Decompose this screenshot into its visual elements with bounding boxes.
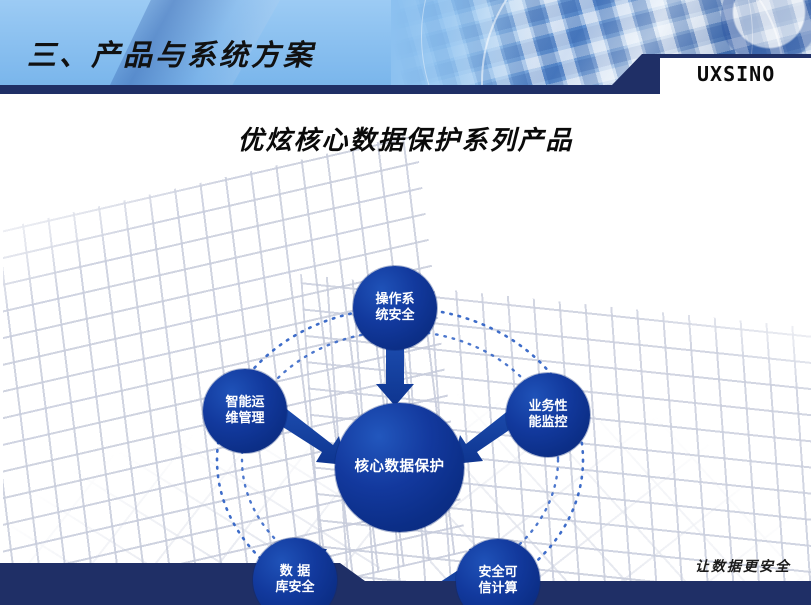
diagram-node-os-security-line1: 操作系 bbox=[375, 292, 414, 308]
diagram-node-trusted-computing-line1: 安全可 bbox=[478, 565, 517, 581]
diagram-node-core[interactable]: 核心数据保护 bbox=[335, 403, 464, 532]
diagram-node-core-label: 核心数据保护 bbox=[355, 459, 445, 477]
diagram-node-ops-management-line2: 维管理 bbox=[225, 411, 264, 427]
footer-tagline: 让数据更安全 bbox=[695, 556, 791, 576]
uxsino-logo: UXSINO bbox=[697, 62, 775, 85]
slide-body: 优炫核心数据保护系列产品 bbox=[0, 94, 811, 605]
diagram-node-ops-management[interactable]: 智能运 维管理 bbox=[203, 369, 287, 453]
presentation-slide: 三、产品与系统方案 UXSINO 优炫核心数据保护系列产品 bbox=[0, 0, 811, 605]
diagram-node-database-security-line1: 数 据 bbox=[275, 564, 314, 580]
slide-header: 三、产品与系统方案 UXSINO bbox=[0, 0, 811, 85]
diagram-node-database-security-line2: 库安全 bbox=[275, 580, 314, 596]
section-title: 三、产品与系统方案 bbox=[27, 32, 315, 74]
diagram-node-os-security-line2: 统安全 bbox=[375, 308, 414, 324]
diagram-node-ops-management-line1: 智能运 bbox=[225, 395, 264, 411]
diagram-node-trusted-computing-line2: 信计算 bbox=[478, 581, 517, 597]
hub-and-spoke-diagram: 核心数据保护 操作系 统安全 业务性 能监控 智能运 维管理 bbox=[0, 94, 811, 605]
header-navy-rule bbox=[0, 85, 660, 94]
diagram-node-app-performance-line1: 业务性 bbox=[528, 399, 567, 415]
left-white-edge bbox=[0, 94, 3, 563]
diagram-node-app-performance-line2: 能监控 bbox=[528, 415, 567, 431]
diagram-node-app-performance[interactable]: 业务性 能监控 bbox=[506, 373, 590, 457]
diagram-node-os-security[interactable]: 操作系 统安全 bbox=[353, 266, 437, 350]
